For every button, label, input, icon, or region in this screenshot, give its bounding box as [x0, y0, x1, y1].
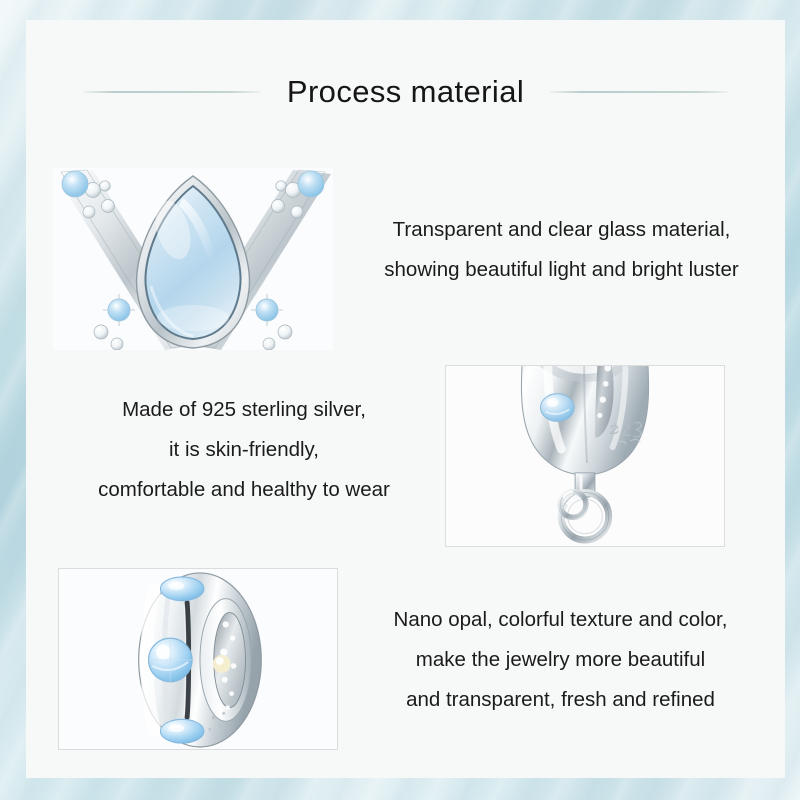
copy-line: Nano opal, colorful texture and color,: [336, 600, 785, 640]
copy-block-silver: Made of 925 sterling silver, it is skin-…: [34, 390, 454, 510]
page-title: Process material: [287, 74, 524, 110]
copy-line: Made of 925 sterling silver,: [34, 390, 454, 430]
copy-line: comfortable and healthy to wear: [34, 470, 454, 510]
spacer-bead-illustration: [59, 569, 337, 749]
content-card: Process material: [26, 20, 785, 778]
teardrop-gemstone-macro-photo: [53, 168, 333, 350]
copy-block-opal: Nano opal, colorful texture and color, m…: [336, 600, 785, 720]
copy-line: and transparent, fresh and refined: [336, 680, 785, 720]
page-background: Process material: [0, 0, 800, 800]
copy-line: showing beautiful light and bright luste…: [338, 250, 785, 290]
gemstone-illustration: [53, 168, 333, 350]
copy-line: it is skin-friendly,: [34, 430, 454, 470]
charm-illustration: [446, 366, 724, 546]
title-rule-left-icon: [83, 91, 261, 93]
opal-spacer-bead-photo: [58, 568, 338, 750]
page-header: Process material: [26, 66, 785, 118]
title-rule-right-icon: [550, 91, 728, 93]
copy-line: Transparent and clear glass material,: [338, 210, 785, 250]
copy-block-glass: Transparent and clear glass material, sh…: [338, 210, 785, 290]
silver-charm-jump-ring-photo: [445, 365, 725, 547]
copy-line: make the jewelry more beautiful: [336, 640, 785, 680]
